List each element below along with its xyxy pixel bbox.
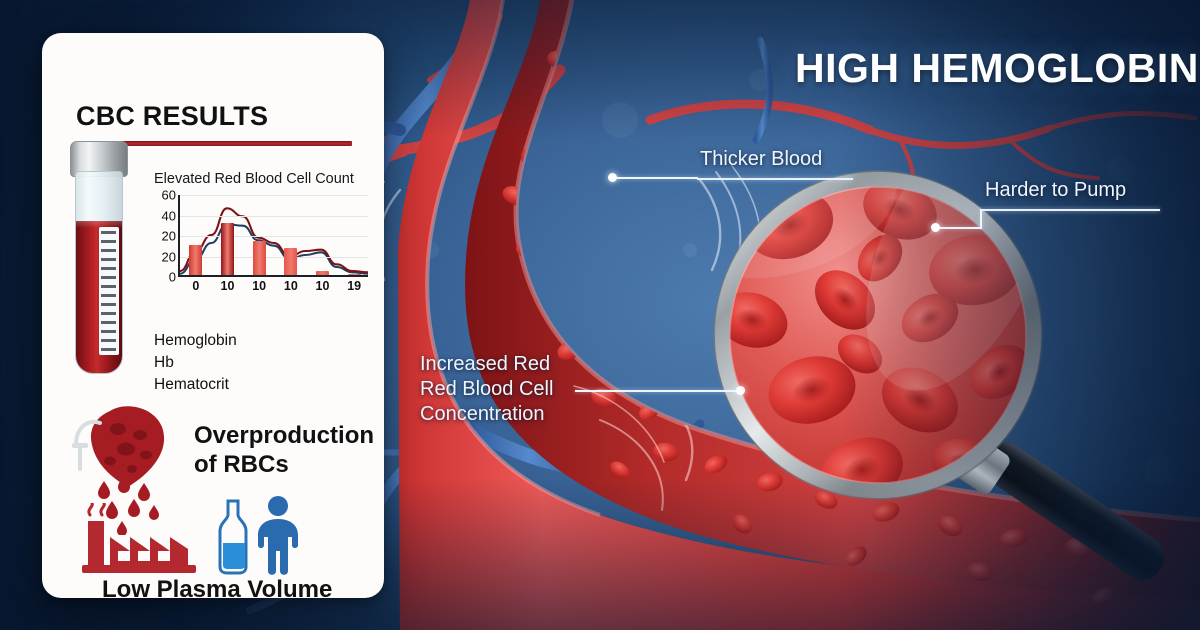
test-tube-icon xyxy=(68,141,130,376)
metric-hematocrit: Hematocrit xyxy=(154,374,237,396)
chart-bar xyxy=(316,271,329,275)
callout-rbc-dot xyxy=(736,386,745,395)
bottle-icon xyxy=(220,501,246,573)
test-tube-body xyxy=(75,171,123,374)
metric-hb: Hb xyxy=(154,352,237,374)
callout-rbc-line3: Concentration xyxy=(420,402,595,427)
bottle-and-person-icon xyxy=(202,495,314,577)
callout-thicker-blood-leader xyxy=(612,177,698,179)
callout-thicker-blood: Thicker Blood xyxy=(700,147,822,172)
metric-hemoglobin: Hemoglobin xyxy=(154,330,237,352)
chart-bar xyxy=(253,241,266,275)
cbc-results-card: CBC RESULTS Elevated Red Blood Cell Coun… xyxy=(42,33,384,598)
chart-gridline xyxy=(180,236,368,237)
chart-x-tick: 10 xyxy=(316,279,330,293)
callout-thicker-blood-rule xyxy=(697,178,853,180)
chart-plot-area: 60402020001010101019 xyxy=(178,195,368,277)
overproduction-line1: Overproduction xyxy=(194,421,374,450)
card-title: CBC RESULTS xyxy=(76,101,268,132)
chart-title: Elevated Red Blood Cell Count xyxy=(154,171,354,187)
chart-bar xyxy=(284,248,297,275)
callout-harder-to-pump-leader-v xyxy=(980,209,982,229)
chart-y-tick: 20 xyxy=(162,249,176,264)
chart-gridline xyxy=(180,195,368,196)
chart-distribution-curves xyxy=(180,195,368,275)
chart-gridline xyxy=(180,257,368,258)
rbc-count-chart: Elevated Red Blood Cell Count 6040202000… xyxy=(154,171,370,321)
chart-y-tick: 60 xyxy=(162,188,176,203)
callout-harder-to-pump-leader-h xyxy=(937,227,982,229)
cbc-metric-list: Hemoglobin Hb Hematocrit xyxy=(154,330,237,396)
chart-gridline xyxy=(180,216,368,217)
chart-y-tick: 40 xyxy=(162,208,176,223)
infographic-canvas: HIGH HEMOGLOBIN Thicker Blood Harder to … xyxy=(0,0,1200,630)
low-plasma-volume-label: Low Plasma Volume xyxy=(102,576,332,598)
callout-thicker-blood-dot xyxy=(608,173,617,182)
overproduction-line2: of RBCs xyxy=(194,450,374,479)
chart-x-tick: 19 xyxy=(347,279,361,293)
callout-harder-to-pump: Harder to Pump xyxy=(985,178,1126,203)
callout-harder-to-pump-dot xyxy=(931,223,940,232)
factory-icon xyxy=(80,503,198,575)
chart-y-tick: 20 xyxy=(162,229,176,244)
chart-y-tick: 0 xyxy=(169,270,176,285)
page-title: HIGH HEMOGLOBIN xyxy=(795,45,1199,92)
person-icon xyxy=(258,496,298,575)
chart-x-tick: 10 xyxy=(284,279,298,293)
callout-rbc-line1: Increased Red xyxy=(420,352,595,377)
chart-bar xyxy=(221,223,234,275)
chart-x-tick: 0 xyxy=(192,279,199,293)
chart-x-tick: 10 xyxy=(221,279,235,293)
overproduction-label: Overproduction of RBCs xyxy=(194,421,374,479)
chart-bar xyxy=(348,274,361,275)
test-tube-scale xyxy=(99,227,119,355)
callout-harder-to-pump-rule xyxy=(982,209,1160,211)
callout-rbc-leader xyxy=(575,390,740,392)
chart-x-tick: 10 xyxy=(252,279,266,293)
callout-rbc-line2: Red Blood Cell xyxy=(420,377,595,402)
callout-increased-rbc-concentration: Increased Red Red Blood Cell Concentrati… xyxy=(420,352,595,427)
chart-bar xyxy=(189,245,202,275)
